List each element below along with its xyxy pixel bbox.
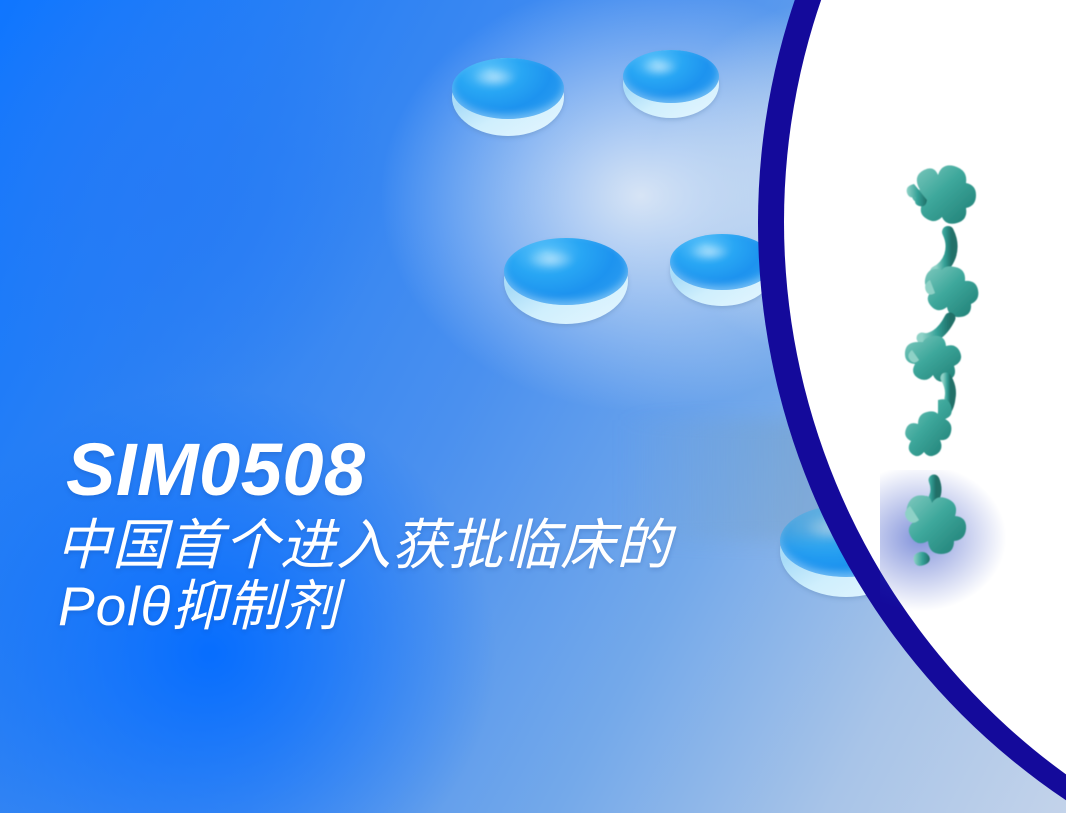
tablet-pill [504, 238, 628, 324]
headline-block: SIM0508 中国首个进入获批临床的 Polθ抑制剂 [56, 436, 856, 639]
tablet-highlight [465, 64, 523, 91]
tablet-highlight [635, 55, 685, 78]
subtitle-line-2: Polθ抑制剂 [58, 577, 856, 636]
subtitle-line-1: 中国首个进入获批临床的 [56, 516, 856, 575]
tablet-pill [623, 50, 719, 118]
page-title: SIM0508 [66, 436, 856, 504]
poster-canvas: SIM0508 中国首个进入获批临床的 Polθ抑制剂 [0, 0, 1066, 813]
tablet-pill [452, 58, 564, 136]
tablet-highlight [519, 245, 583, 274]
tablet-highlight [682, 240, 736, 264]
